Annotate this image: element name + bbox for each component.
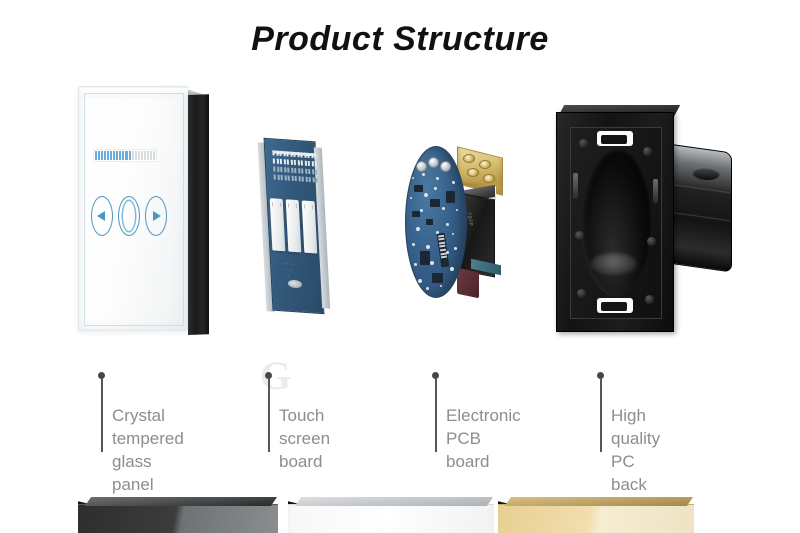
pcb-solder-pad — [414, 263, 417, 266]
pcb-round-substrate — [405, 146, 467, 298]
led-segment — [291, 176, 293, 181]
pcb-solder-pad — [440, 285, 442, 287]
led-segment — [277, 175, 279, 180]
level-bar — [93, 149, 157, 162]
pcb-electrolytic-cap — [416, 161, 427, 172]
level-bar-segment — [125, 151, 127, 160]
pcb-capacitor — [457, 268, 479, 299]
level-bar-segment — [144, 151, 146, 160]
part-crystal-tempered-glass-panel — [78, 86, 208, 331]
level-bar-segment — [153, 151, 155, 160]
variant-top-bevel — [295, 497, 493, 506]
level-bar-segment — [122, 151, 124, 160]
housing-screw-boss — [645, 295, 654, 304]
led-segment — [276, 159, 278, 164]
housing-side-slit — [573, 173, 578, 199]
housing-mounting-slot-top — [597, 131, 633, 146]
part-pc-back-housing — [556, 112, 736, 337]
callout-label: Touch screen board — [279, 404, 330, 473]
led-segment — [290, 160, 292, 165]
led-segment — [294, 160, 296, 165]
housing-screw-boss — [577, 289, 586, 298]
led-segment — [314, 153, 316, 158]
pcb-smd-component — [446, 191, 455, 203]
led-segment — [305, 169, 307, 174]
housing-screw-boss — [575, 231, 584, 240]
led-segment — [311, 161, 313, 166]
pcb-smd-component — [420, 251, 430, 265]
touch-key-right-icon — [145, 196, 167, 236]
glass-panel-face — [78, 86, 188, 331]
led-segment — [291, 168, 293, 173]
led-segment — [287, 167, 289, 172]
pcb-terminal-screw — [483, 174, 495, 183]
led-segment — [279, 151, 281, 156]
pcb-solder-pad — [416, 227, 420, 231]
pcb-smd-component — [430, 199, 440, 207]
pcb-smd-component — [432, 273, 443, 283]
level-bar-segment — [150, 151, 152, 160]
pcb-solder-pad — [446, 251, 449, 254]
level-bar-segment — [129, 151, 131, 160]
callout-label: Electronic PCB board — [446, 404, 521, 473]
touch-key-group — [91, 195, 167, 237]
led-segment — [316, 177, 318, 182]
left-triangle-icon — [97, 211, 105, 221]
variant-face — [288, 504, 494, 533]
housing-mounting-slot-bottom — [597, 298, 633, 313]
part-electronic-pcb-board: TQ2P — [405, 138, 515, 313]
pcb-electrolytic-cap — [440, 161, 451, 172]
led-row — [273, 166, 317, 174]
led-row — [273, 158, 317, 166]
led-segment — [315, 161, 317, 166]
pcb-smd-component — [414, 185, 423, 192]
level-bar-segment — [110, 151, 112, 160]
led-segment — [276, 151, 278, 156]
glass-panel-side-edge — [188, 94, 209, 335]
pcb-terminal-screw — [479, 160, 491, 169]
pcb-solder-pad — [452, 181, 455, 184]
variant-white — [288, 497, 494, 533]
led-segment — [284, 167, 286, 172]
touch-board-led-array — [272, 150, 317, 179]
pcb-smd-component — [426, 219, 433, 225]
led-segment — [273, 158, 275, 163]
pcb-solder-pad — [426, 287, 429, 290]
level-bar-segment — [119, 151, 121, 160]
led-segment — [286, 151, 288, 156]
led-segment — [304, 161, 306, 166]
callout-stem — [268, 378, 270, 452]
pcb-pin-header — [437, 233, 450, 268]
level-bar-segment — [101, 151, 103, 160]
level-bar-segment — [132, 151, 134, 160]
pcb-solder-pad — [442, 207, 445, 210]
variant-black — [78, 497, 278, 533]
pcb-solder-pad — [418, 279, 422, 283]
led-segment — [293, 152, 295, 157]
level-bar-segment — [113, 151, 115, 160]
led-segment — [311, 153, 313, 158]
pcb-solder-pad — [436, 231, 439, 234]
housing-screw-boss — [579, 139, 588, 148]
led-segment — [298, 168, 300, 173]
pcb-electrolytic-cap — [428, 157, 439, 168]
callout-stem — [600, 378, 602, 452]
housing-screw-boss — [647, 237, 656, 246]
variant-face — [498, 504, 694, 533]
level-bar-segment — [104, 151, 106, 160]
led-segment — [272, 150, 274, 155]
callout-label: Crystal tempered glass panel — [112, 404, 184, 496]
led-segment — [274, 175, 276, 180]
color-variant-strip — [0, 497, 800, 533]
led-segment — [277, 167, 279, 172]
callout-stem — [101, 378, 103, 452]
touch-board-sensor-pads — [270, 198, 323, 254]
touch-key-left-icon — [91, 196, 113, 236]
led-segment — [298, 176, 300, 181]
pcb-solder-pad — [420, 209, 423, 212]
pcb-solder-pad — [422, 173, 425, 176]
level-bar-segment — [95, 151, 97, 160]
level-bar-segment — [98, 151, 100, 160]
pcb-solder-pad — [456, 209, 458, 211]
pcb-terminal-screw — [467, 168, 479, 177]
touch-key-stop-icon — [118, 196, 140, 236]
led-segment — [273, 166, 275, 171]
pcb-solder-pad — [424, 193, 428, 197]
led-segment — [315, 169, 317, 174]
led-segment — [308, 169, 310, 174]
level-bar-segment — [107, 151, 109, 160]
variant-top-bevel — [85, 497, 277, 506]
sensor-pad — [270, 198, 286, 251]
housing-front-plate — [556, 112, 674, 332]
level-bar-segment — [141, 151, 143, 160]
pcb-smd-component — [412, 211, 420, 217]
pcb-solder-pad — [436, 177, 439, 180]
housing-cavity-highlight — [591, 253, 637, 275]
pcb-solder-pad — [454, 247, 457, 250]
pcb-solder-pad — [434, 187, 437, 190]
led-segment — [290, 152, 292, 157]
level-bar-segment — [116, 151, 118, 160]
variant-gold — [498, 497, 694, 533]
led-segment — [280, 167, 282, 172]
led-segment — [283, 151, 285, 156]
variant-top-bevel — [505, 497, 693, 506]
led-segment — [281, 175, 283, 180]
variant-face — [78, 504, 278, 533]
right-triangle-icon — [153, 211, 161, 221]
led-segment — [301, 160, 303, 165]
led-segment — [297, 160, 299, 165]
led-segment — [283, 159, 285, 164]
led-segment — [300, 152, 302, 157]
pcb-solder-pad — [450, 267, 454, 271]
pcb-terminal-screw — [463, 154, 475, 163]
part-touch-screen-board: ········· — [258, 140, 350, 315]
led-segment — [308, 161, 310, 166]
led-segment — [305, 177, 307, 182]
pcb-solder-pad — [410, 197, 412, 199]
led-segment — [280, 159, 282, 164]
led-segment — [307, 153, 309, 158]
led-segment — [287, 159, 289, 164]
level-bar-segment — [147, 151, 149, 160]
housing-screw-boss — [643, 147, 652, 156]
led-segment — [301, 168, 303, 173]
sensor-pad — [302, 200, 318, 253]
touch-board-silkscreen: ········· — [283, 261, 315, 297]
sensor-pad — [286, 199, 302, 252]
led-segment — [295, 176, 297, 181]
pcb-solder-pad — [412, 243, 415, 246]
led-segment — [309, 177, 311, 182]
callout-stem — [435, 378, 437, 452]
pcb-solder-pad — [452, 233, 454, 235]
led-segment — [312, 177, 314, 182]
pcb-solder-pad — [426, 245, 430, 249]
page-title: Product Structure — [0, 20, 800, 59]
housing-rear-cylinder — [668, 144, 732, 273]
led-segment — [304, 153, 306, 158]
level-bar-segment — [138, 151, 140, 160]
pcb-solder-pad — [430, 261, 434, 265]
led-segment — [297, 152, 299, 157]
led-segment — [288, 175, 290, 180]
pcb-solder-pad — [412, 177, 414, 179]
led-segment — [284, 175, 286, 180]
led-segment — [312, 169, 314, 174]
led-segment — [294, 168, 296, 173]
pcb-solder-pad — [446, 223, 449, 226]
product-structure-page: Product Structure G — [0, 0, 800, 533]
led-segment — [302, 176, 304, 181]
level-bar-segment — [135, 151, 137, 160]
housing-side-slit — [653, 179, 658, 203]
